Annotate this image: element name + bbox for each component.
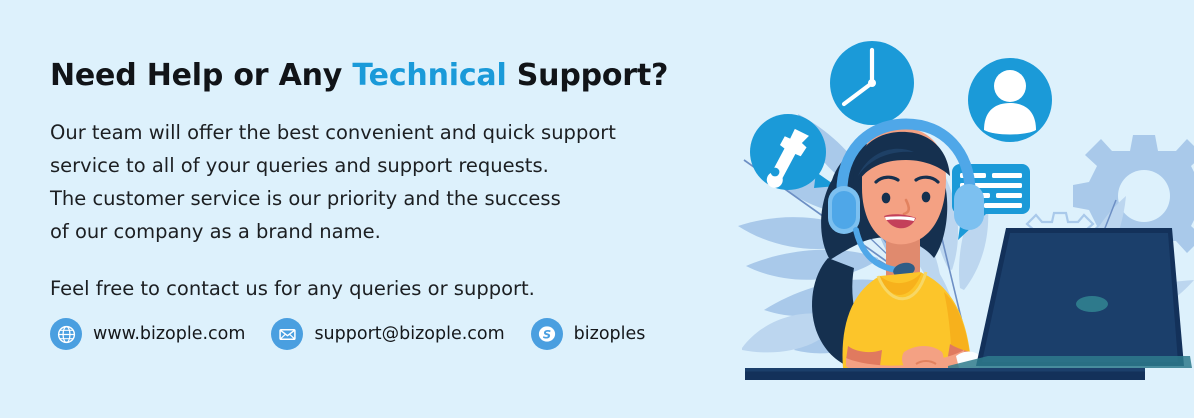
banner-content: Need Help or Any Technical Support? Our …: [50, 58, 740, 304]
skype-icon: S: [531, 318, 563, 350]
contact-item-email[interactable]: support@bizople.com: [271, 318, 504, 350]
user-avatar-icon: [968, 58, 1052, 142]
body-line-4: of our company as a brand name.: [50, 215, 740, 248]
svg-text:S: S: [543, 328, 551, 342]
closing-paragraph: Feel free to contact us for any queries …: [50, 248, 740, 304]
body-line-2: service to all of your queries and suppo…: [50, 149, 740, 182]
globe-icon: [50, 318, 82, 350]
headline-part-2: Support?: [507, 58, 669, 93]
clock-icon: [830, 41, 914, 125]
body-line-3: The customer service is our priority and…: [50, 182, 740, 215]
envelope-icon: [271, 318, 303, 350]
skype-label: bizoples: [574, 324, 646, 344]
page-title: Need Help or Any Technical Support?: [50, 58, 740, 94]
headline-accent-word: Technical: [352, 58, 506, 93]
support-banner: Need Help or Any Technical Support? Our …: [0, 0, 1194, 418]
email-label: support@bizople.com: [314, 324, 504, 344]
body-line-1: Our team will offer the best convenient …: [50, 116, 740, 149]
website-label: www.bizople.com: [93, 324, 245, 344]
headline-part-1: Need Help or Any: [50, 58, 352, 93]
contact-item-website[interactable]: www.bizople.com: [50, 318, 245, 350]
contact-item-skype[interactable]: S bizoples: [531, 318, 646, 350]
contact-row: www.bizople.com support@bizople.com S bi…: [50, 318, 645, 350]
body-paragraph: Our team will offer the best convenient …: [50, 94, 740, 248]
support-illustration: [720, 0, 1194, 418]
